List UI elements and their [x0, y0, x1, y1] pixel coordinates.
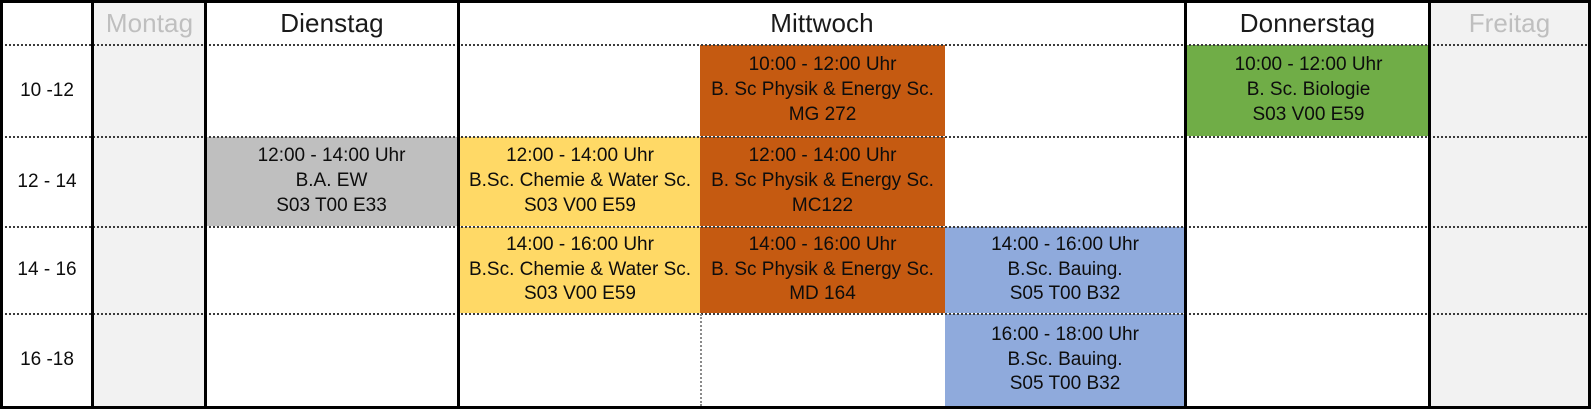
timetable: 10:00 - 12:00 Uhr B. Sc Physik & Energy … — [0, 0, 1591, 420]
mittwoch-subcolumn-divider-1 — [700, 314, 702, 406]
event-course: B. Sc. Biologie — [1247, 78, 1371, 103]
event-block-chemie-12-14[interactable]: 12:00 - 14:00 Uhr B.Sc. Chemie & Water S… — [460, 137, 700, 226]
column-separator-mittwoch — [1184, 0, 1187, 409]
time-slot-label-12-14: 12 - 14 — [3, 137, 91, 226]
event-room: S03 V00 E59 — [524, 194, 636, 219]
event-course: B.A. EW — [296, 169, 368, 194]
event-block-bauing-16-18[interactable]: 16:00 - 18:00 Uhr B.Sc. Bauing. S05 T00 … — [945, 314, 1185, 406]
event-time: 12:00 - 14:00 Uhr — [258, 144, 406, 169]
event-course: B. Sc Physik & Energy Sc. — [711, 78, 934, 103]
event-course: B.Sc. Bauing. — [1007, 348, 1122, 373]
event-block-ba-ew-12-14[interactable]: 12:00 - 14:00 Uhr B.A. EW S03 T00 E33 — [206, 137, 457, 226]
column-separator-montag — [204, 0, 207, 409]
row-separator-12-14 — [0, 226, 1591, 228]
event-block-chemie-14-16[interactable]: 14:00 - 16:00 Uhr B.Sc. Chemie & Water S… — [460, 227, 700, 313]
event-time: 14:00 - 16:00 Uhr — [749, 233, 897, 258]
row-separator-10-12 — [0, 136, 1591, 138]
event-course: B.Sc. Chemie & Water Sc. — [469, 169, 691, 194]
day-header-mittwoch[interactable]: Mittwoch — [460, 2, 1184, 44]
event-time: 10:00 - 12:00 Uhr — [749, 53, 897, 78]
event-block-bauing-14-16[interactable]: 14:00 - 16:00 Uhr B.Sc. Bauing. S05 T00 … — [945, 227, 1185, 313]
time-slot-label-16-18: 16 -18 — [3, 314, 91, 406]
event-time: 16:00 - 18:00 Uhr — [991, 323, 1139, 348]
event-block-physik-14-16[interactable]: 14:00 - 16:00 Uhr B. Sc Physik & Energy … — [700, 227, 945, 313]
day-header-dienstag[interactable]: Dienstag — [207, 2, 457, 44]
event-time: 14:00 - 16:00 Uhr — [506, 233, 654, 258]
column-separator-dienstag — [457, 0, 460, 409]
time-slot-label-14-16: 14 - 16 — [3, 227, 91, 313]
event-block-physik-12-14[interactable]: 12:00 - 14:00 Uhr B. Sc Physik & Energy … — [700, 137, 945, 226]
table-border-bottom — [0, 406, 1591, 409]
event-time: 14:00 - 16:00 Uhr — [991, 233, 1139, 258]
time-slot-label-10-12: 10 -12 — [3, 45, 91, 136]
event-room: S03 V00 E59 — [524, 282, 636, 307]
event-time: 12:00 - 14:00 Uhr — [749, 144, 897, 169]
row-separator-14-16 — [0, 313, 1591, 315]
day-column-freitag-background — [1431, 2, 1589, 407]
event-room: S05 T00 B32 — [1010, 372, 1121, 397]
column-separator-time — [91, 0, 94, 409]
event-room: S03 V00 E59 — [1253, 103, 1365, 128]
event-time: 12:00 - 14:00 Uhr — [506, 144, 654, 169]
event-room: MC122 — [792, 194, 853, 219]
event-room: S03 T00 E33 — [276, 194, 387, 219]
event-course: B.Sc. Chemie & Water Sc. — [469, 258, 691, 283]
column-separator-donnerstag — [1428, 0, 1431, 409]
event-course: B. Sc Physik & Energy Sc. — [711, 169, 934, 194]
event-block-physik-10-12[interactable]: 10:00 - 12:00 Uhr B. Sc Physik & Energy … — [700, 45, 945, 136]
event-room: S05 T00 B32 — [1010, 282, 1121, 307]
event-course: B.Sc. Bauing. — [1007, 258, 1122, 283]
event-course: B. Sc Physik & Energy Sc. — [711, 258, 934, 283]
day-header-freitag[interactable]: Freitag — [1431, 2, 1588, 44]
day-column-montag-background — [94, 2, 205, 407]
day-header-montag[interactable]: Montag — [94, 2, 205, 44]
row-separator-header — [0, 44, 1591, 46]
event-time: 10:00 - 12:00 Uhr — [1235, 53, 1383, 78]
event-room: MD 164 — [789, 282, 856, 307]
event-block-biologie-10-12[interactable]: 10:00 - 12:00 Uhr B. Sc. Biologie S03 V0… — [1187, 45, 1430, 136]
day-header-donnerstag[interactable]: Donnerstag — [1187, 2, 1428, 44]
event-room: MG 272 — [789, 103, 857, 128]
